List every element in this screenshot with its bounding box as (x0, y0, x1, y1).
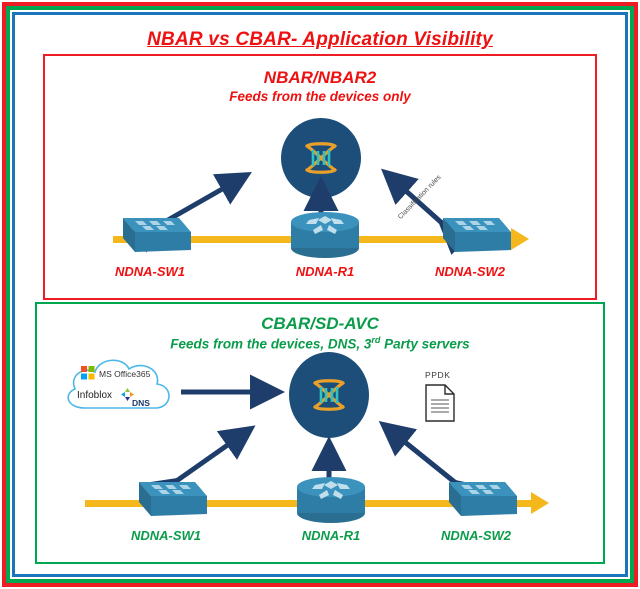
device-label-sw1: NDNA-SW1 (119, 528, 213, 543)
panel-cbar-subtitle-pre: Feeds from the devices, DNS, 3 (170, 337, 371, 352)
device-label-sw2: NDNA-SW2 (429, 528, 523, 543)
page-title: NBAR vs CBAR- Application Visibility (15, 29, 625, 51)
device-label-sw1: NDNA-SW1 (103, 264, 197, 279)
cloud-dns-label: DNS (132, 398, 150, 408)
ppdk-label: PPDK (425, 370, 451, 380)
diagram-canvas: NBAR vs CBAR- Application Visibility NBA… (15, 15, 625, 574)
device-label-r1: NDNA-R1 (284, 528, 378, 543)
device-icon-router-r1[interactable] (295, 472, 367, 526)
microsoft-logo-icon (81, 366, 95, 380)
network-backbone-arrowhead (511, 228, 529, 250)
dna-glyph (281, 118, 361, 198)
cloud-shape (55, 346, 183, 418)
panel-nbar: NBAR/NBAR2 Feeds from the devices only (43, 54, 597, 300)
device-icon-switch-sw2[interactable] (429, 208, 511, 260)
device-icon-switch-sw1[interactable] (125, 472, 207, 524)
dna-analytics-icon[interactable] (289, 352, 369, 438)
cloud-infoblox-label: Infoblox (77, 390, 112, 401)
device-icon-switch-sw1[interactable] (109, 208, 191, 260)
cloud-office365-label: MS Office365 (99, 369, 150, 379)
dna-analytics-icon[interactable] (281, 118, 361, 198)
device-label-r1: NDNA-R1 (278, 264, 372, 279)
device-label-sw2: NDNA-SW2 (423, 264, 517, 279)
panel-cbar-title: CBAR/SD-AVC (37, 314, 603, 334)
panel-cbar: CBAR/SD-AVC Feeds from the devices, DNS,… (35, 302, 605, 564)
dna-glyph (289, 352, 369, 438)
panel-cbar-subtitle-post: Party servers (380, 337, 469, 352)
third-party-feeds-cloud[interactable]: MS Office365 Infoblox DNS (55, 346, 183, 418)
device-icon-switch-sw2[interactable] (435, 472, 517, 524)
panel-nbar-subtitle: Feeds from the devices only (45, 89, 595, 104)
ppdk-document-icon[interactable] (425, 384, 455, 422)
network-backbone-arrowhead (531, 492, 549, 514)
panel-nbar-title: NBAR/NBAR2 (45, 68, 595, 88)
device-icon-router-r1[interactable] (289, 208, 361, 260)
